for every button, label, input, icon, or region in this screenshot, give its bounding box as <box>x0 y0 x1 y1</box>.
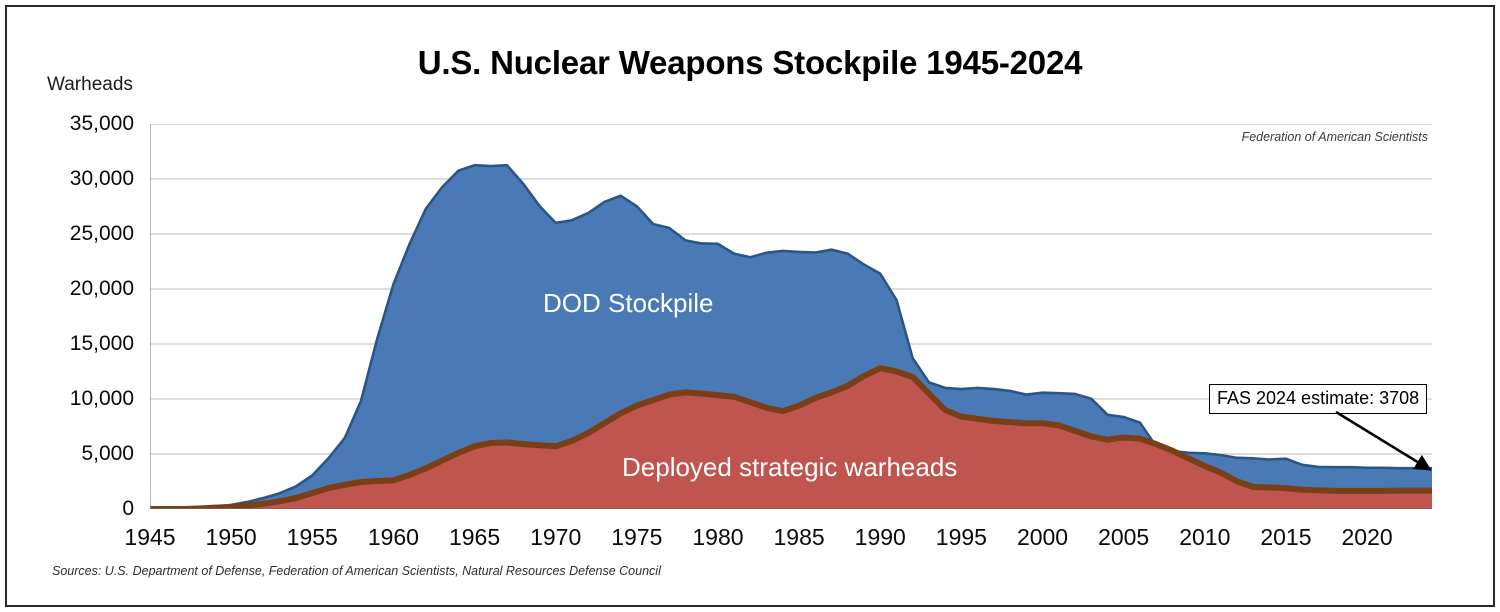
x-axis-tick-label: 1975 <box>597 524 677 551</box>
x-axis-tick-label: 1950 <box>191 524 271 551</box>
y-axis-tick-label: 35,000 <box>24 112 134 136</box>
x-axis-tick-label: 1960 <box>353 524 433 551</box>
x-axis-tick-label: 1990 <box>840 524 920 551</box>
y-axis-tick-label: 10,000 <box>24 387 134 411</box>
series-label-dod-stockpile: DOD Stockpile <box>543 288 714 319</box>
x-axis-tick-label: 2010 <box>1165 524 1245 551</box>
y-axis-title: Warheads <box>47 74 133 96</box>
x-axis-tick-label: 1985 <box>759 524 839 551</box>
x-axis-tick-label: 2015 <box>1246 524 1326 551</box>
series-label-deployed-strategic: Deployed strategic warheads <box>622 452 957 483</box>
y-axis-tick-label: 30,000 <box>24 167 134 191</box>
chart-root: U.S. Nuclear Weapons Stockpile 1945-2024… <box>0 0 1500 612</box>
x-axis-tick-label: 1970 <box>516 524 596 551</box>
sources-note: Sources: U.S. Department of Defense, Fed… <box>52 564 661 578</box>
page-title: U.S. Nuclear Weapons Stockpile 1945-2024 <box>0 44 1500 82</box>
y-axis-tick-label: 25,000 <box>24 222 134 246</box>
y-axis-tick-label: 5,000 <box>24 442 134 466</box>
y-axis-tick-label: 20,000 <box>24 277 134 301</box>
y-axis-tick-label: 15,000 <box>24 332 134 356</box>
x-axis-tick-label: 2005 <box>1084 524 1164 551</box>
x-axis-tick-label: 2020 <box>1327 524 1407 551</box>
x-axis-tick-label: 1995 <box>921 524 1001 551</box>
x-axis-tick-label: 1955 <box>272 524 352 551</box>
x-axis-tick-label: 2000 <box>1003 524 1083 551</box>
fas-estimate-callout: FAS 2024 estimate: 3708 <box>1209 384 1427 414</box>
x-axis-tick-label: 1945 <box>110 524 190 551</box>
x-axis-tick-label: 1980 <box>678 524 758 551</box>
y-axis-tick-label: 0 <box>24 497 134 521</box>
x-axis-tick-label: 1965 <box>435 524 515 551</box>
